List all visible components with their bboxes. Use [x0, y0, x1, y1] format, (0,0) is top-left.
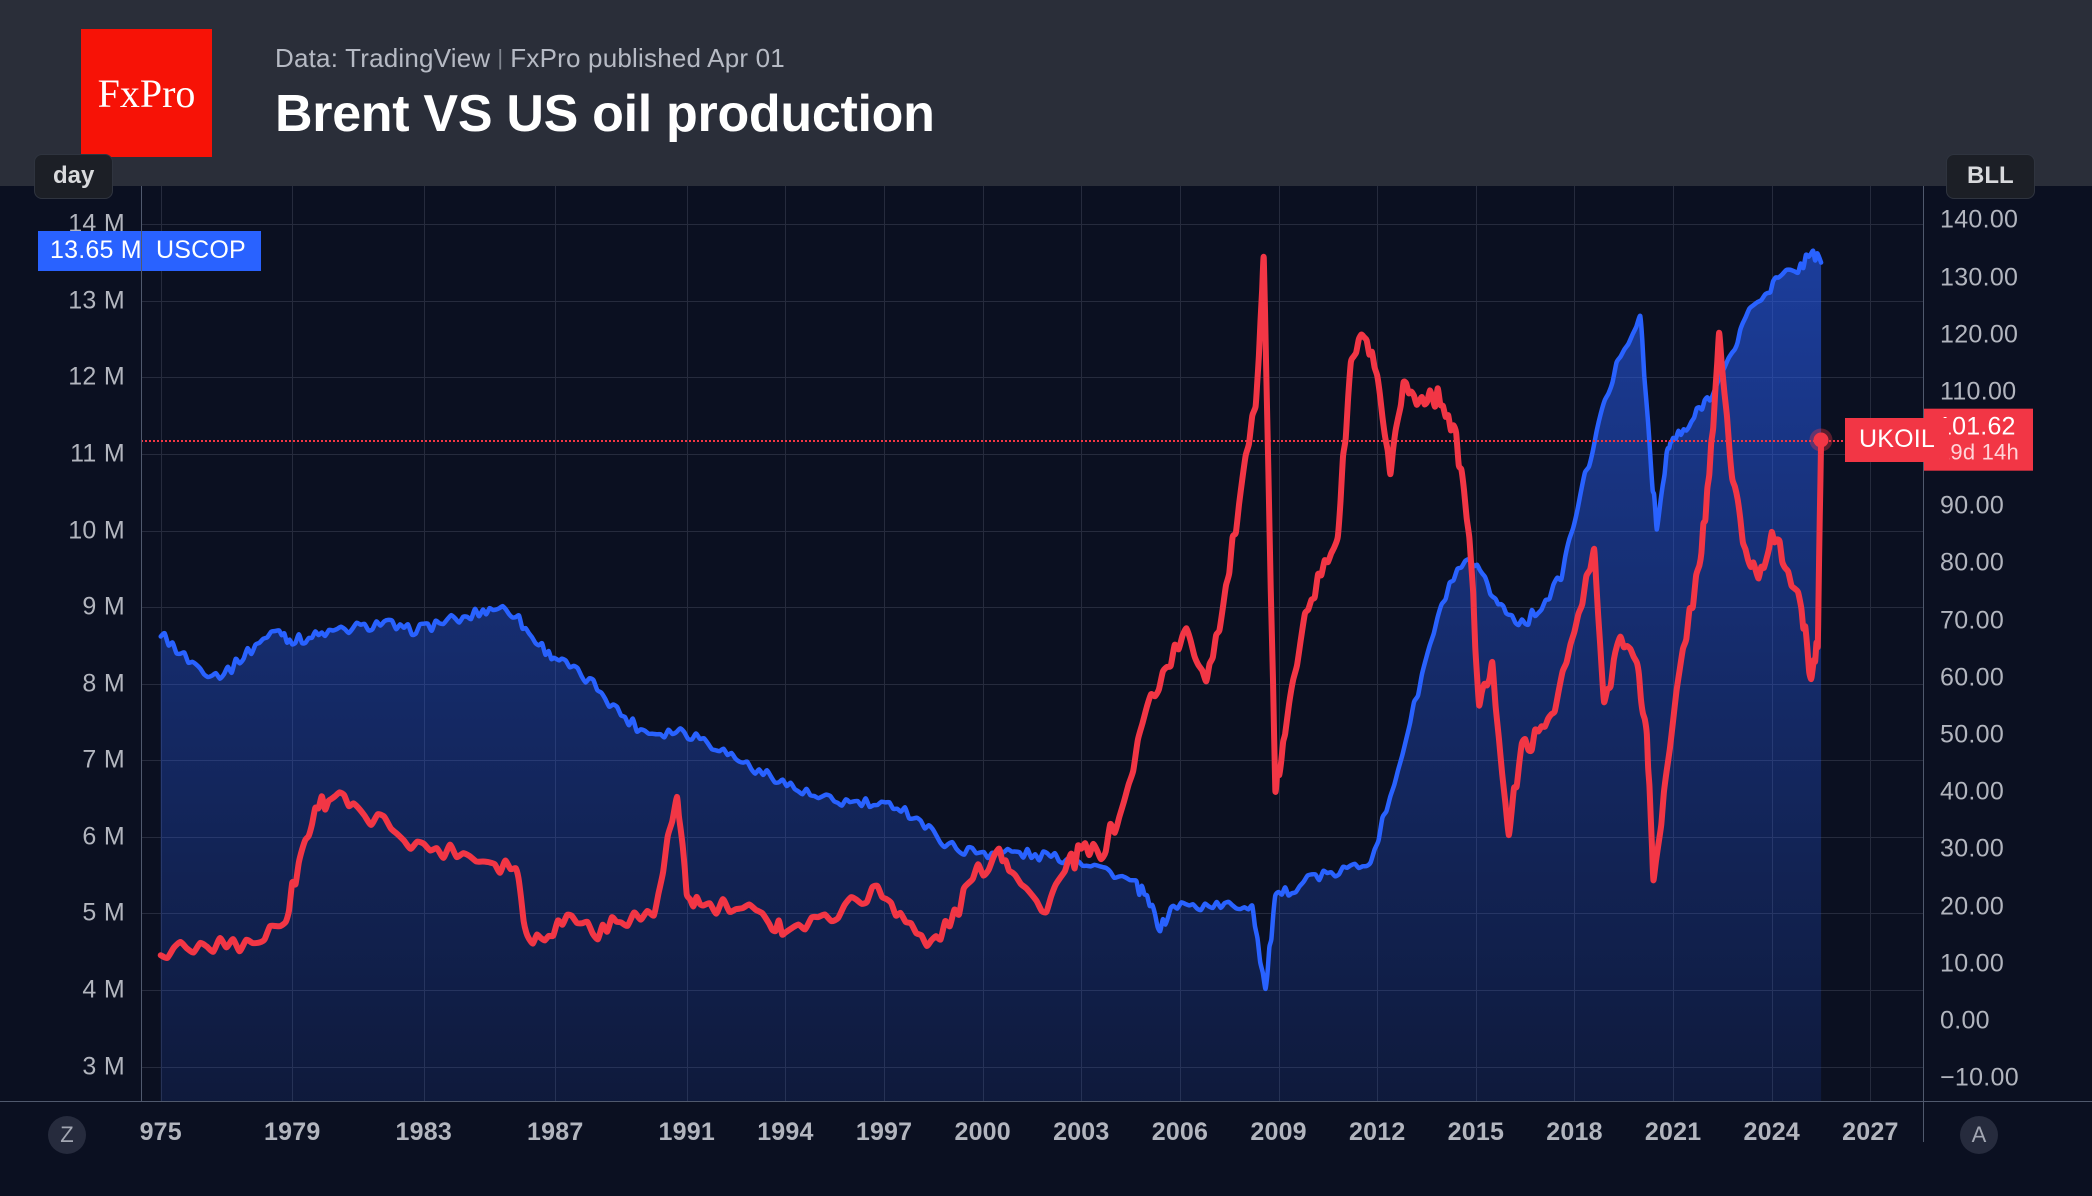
right-axis-tick: 70.00 [1940, 606, 2004, 635]
time-axis-tick: 2018 [1546, 1118, 1602, 1147]
left-axis-tick: 6 M [82, 822, 125, 851]
left-axis-tick: 4 M [82, 975, 125, 1004]
header-subtitle: Data: TradingView|FxPro published Apr 01 [275, 43, 935, 74]
time-axis-tick: 2015 [1448, 1118, 1504, 1147]
ukoil-countdown: 29d 14h [1938, 440, 2019, 465]
right-axis-tick: 140.00 [1940, 206, 2018, 235]
right-axis-tick: 130.00 [1940, 263, 2018, 292]
time-axis-tick: 1979 [264, 1118, 320, 1147]
page-title: Brent VS US oil production [275, 84, 935, 144]
unit-badge-bll[interactable]: BLL [1946, 154, 2035, 199]
ukoil-current-value: 101.62 [1938, 412, 2019, 440]
timeframe-badge[interactable]: day [34, 154, 113, 199]
ukoil-price-line [141, 440, 1923, 442]
uscop-series-tag[interactable]: USCOP [141, 231, 261, 271]
time-axis-tick: 2009 [1250, 1118, 1306, 1147]
page-header: FxPro Data: TradingView|FxPro published … [0, 0, 2092, 186]
right-axis-tick: 40.00 [1940, 778, 2004, 807]
subtitle-publisher: FxPro published Apr 01 [510, 43, 785, 73]
right-axis-tick: 60.00 [1940, 663, 2004, 692]
time-axis-tick: 2003 [1053, 1118, 1109, 1147]
time-axis-tick: 2006 [1152, 1118, 1208, 1147]
left-axis-tick: 11 M [70, 439, 125, 468]
time-axis[interactable]: 9751979198319871991199419972000200320062… [0, 1102, 2092, 1196]
time-axis-tick: 2000 [954, 1118, 1010, 1147]
left-axis-tick: 3 M [82, 1052, 125, 1081]
time-axis-tick: 975 [140, 1118, 182, 1147]
time-axis-divider [1923, 1102, 1924, 1142]
chart-area: day 14 M13 M12 M11 M10 M9 M8 M7 M6 M5 M4… [0, 186, 2092, 1196]
right-axis-tick: 30.00 [1940, 835, 2004, 864]
time-axis-tick: 1997 [856, 1118, 912, 1147]
time-axis-tick: 2024 [1744, 1118, 1800, 1147]
left-axis-tick: 9 M [82, 593, 125, 622]
header-text-block: Data: TradingView|FxPro published Apr 01… [275, 43, 935, 144]
right-axis-tick: 0.00 [1940, 1006, 1990, 1035]
left-axis-tick: 13 M [68, 286, 125, 315]
ukoil-series-tag[interactable]: UKOIL [1845, 418, 1949, 462]
ukoil-price-marker [1814, 432, 1829, 447]
series-canvas [141, 186, 1923, 1101]
time-axis-tick: 1994 [757, 1118, 813, 1147]
left-axis-tick: 5 M [82, 899, 125, 928]
time-axis-tick: 2012 [1349, 1118, 1405, 1147]
left-axis-tick: 12 M [68, 363, 125, 392]
zoom-reset-button[interactable]: Z [48, 1116, 86, 1154]
time-axis-tick: 2021 [1645, 1118, 1701, 1147]
right-price-axis[interactable]: BLL 140.00130.00120.00110.0090.0080.0070… [1924, 186, 2092, 1101]
right-axis-tick: 90.00 [1940, 492, 2004, 521]
left-axis-tick: 10 M [68, 516, 125, 545]
chart-page: FxPro Data: TradingView|FxPro published … [0, 0, 2092, 1196]
left-price-axis[interactable]: day 14 M13 M12 M11 M10 M9 M8 M7 M6 M5 M4… [0, 186, 141, 1101]
right-axis-tick: 80.00 [1940, 549, 2004, 578]
time-axis-tick: 1991 [659, 1118, 715, 1147]
uscop-value-badge: 13.65 M [38, 231, 154, 271]
left-axis-tick: 7 M [82, 746, 125, 775]
right-axis-tick: 20.00 [1940, 892, 2004, 921]
right-axis-tick: 120.00 [1940, 320, 2018, 349]
subtitle-separator: | [490, 45, 510, 70]
subtitle-source: Data: TradingView [275, 43, 490, 73]
logo-text: FxPro [98, 70, 196, 117]
time-axis-tick: 1987 [527, 1118, 583, 1147]
time-axis-tick: 2027 [1842, 1118, 1898, 1147]
left-axis-divider [141, 186, 142, 1101]
right-axis-tick: 50.00 [1940, 721, 2004, 750]
auto-scale-button[interactable]: A [1960, 1116, 1998, 1154]
right-axis-tick: −10.00 [1940, 1064, 2019, 1093]
time-axis-tick: 1983 [396, 1118, 452, 1147]
right-axis-tick: 10.00 [1940, 949, 2004, 978]
right-axis-tick: 110.00 [1940, 377, 2016, 406]
uscop-area-fill [161, 251, 1821, 1101]
plot-region[interactable]: USCOP [141, 186, 1923, 1101]
left-axis-tick: 8 M [82, 669, 125, 698]
fxpro-logo: FxPro [81, 29, 212, 157]
